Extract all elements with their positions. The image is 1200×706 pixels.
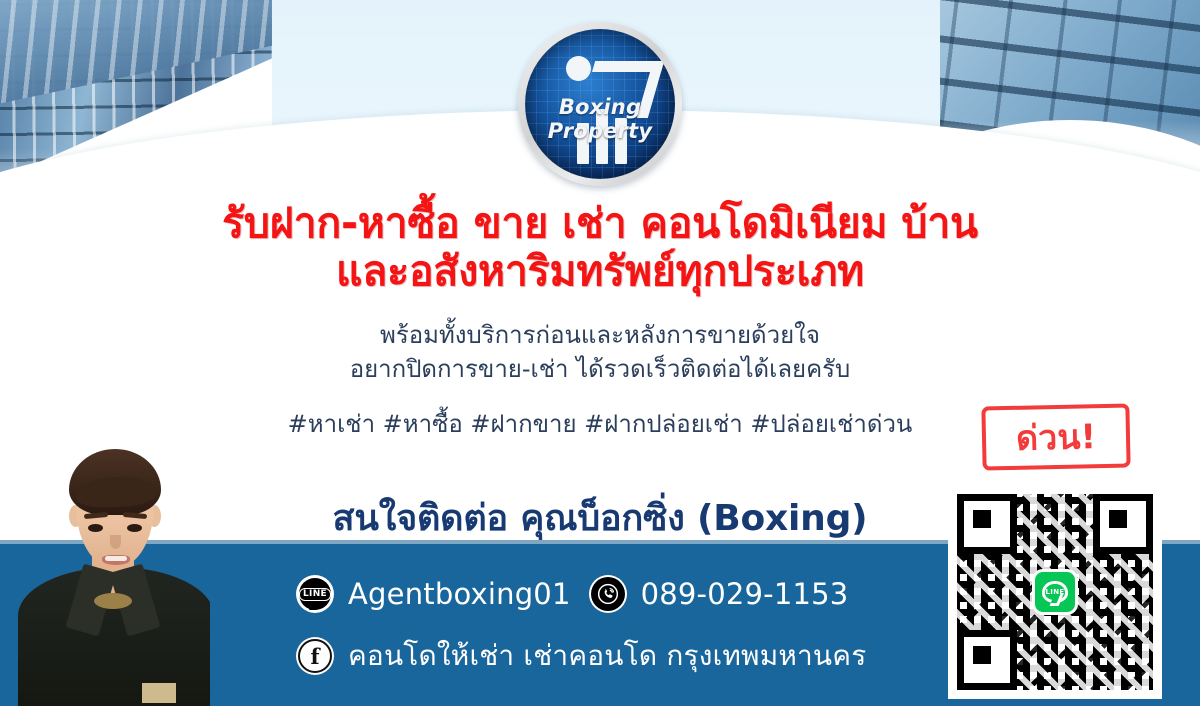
urgent-stamp: ด่วน! xyxy=(981,403,1130,470)
headline-line-1: รับฝาก-หาซื้อ ขาย เช่า คอนโดมิเนียม บ้าน xyxy=(0,199,1200,247)
headline-line-2: และอสังหาริมทรัพย์ทุกประเภท xyxy=(0,247,1200,295)
footer-row-facebook: f คอนโดให้เช่า เช่าคอนโด กรุงเทพมหานคร xyxy=(296,634,866,678)
brand-logo-inner: Boxing Property xyxy=(525,29,675,179)
subtitle-line-2: อยากปิดการขาย-เช่า ได้รวดเร็วติดต่อได้เล… xyxy=(0,352,1200,386)
line-id-text[interactable]: Agentboxing01 xyxy=(348,577,571,611)
footer-row-line-and-phone: LINE Agentboxing01 089-029-1153 xyxy=(296,575,848,613)
agent-portrait-photo xyxy=(14,415,210,706)
qr-line-badge-icon: LINE xyxy=(1032,569,1078,615)
portrait-name-badge xyxy=(142,683,176,703)
line-app-icon[interactable]: LINE xyxy=(296,575,334,613)
qr-finder-top-left xyxy=(957,494,1017,554)
qr-finder-bottom-left xyxy=(957,630,1017,690)
qr-finder-top-right xyxy=(1093,494,1153,554)
facebook-icon[interactable]: f xyxy=(296,637,334,675)
subtitle-line-1: พร้อมทั้งบริการก่อนและหลังการขายด้วยใจ xyxy=(0,318,1200,352)
logo-person-head-icon xyxy=(566,56,591,81)
qr-quiet-zone-right xyxy=(1153,490,1157,694)
brand-logo-text: Boxing Property xyxy=(525,95,675,143)
qr-line-label: LINE xyxy=(1046,589,1065,596)
portrait-teeth xyxy=(105,556,127,561)
portrait-collar-knot xyxy=(94,593,132,609)
phone-ringing-icon[interactable] xyxy=(589,575,627,613)
qr-matrix: LINE xyxy=(953,490,1157,694)
line-qr-code[interactable]: LINE xyxy=(948,485,1162,699)
page-title: รับฝาก-หาซื้อ ขาย เช่า คอนโดมิเนียม บ้าน… xyxy=(0,199,1200,295)
qr-quiet-zone-bottom xyxy=(953,690,1157,694)
promo-poster: Boxing Property รับฝาก-หาซื้อ ขาย เช่า ค… xyxy=(0,0,1200,706)
subtitle-block: พร้อมทั้งบริการก่อนและหลังการขายด้วยใจ อ… xyxy=(0,318,1200,386)
phone-number-text[interactable]: 089-029-1153 xyxy=(641,577,849,611)
brand-logo: Boxing Property xyxy=(518,22,682,186)
facebook-page-text[interactable]: คอนโดให้เช่า เช่าคอนโด กรุงเทพมหานคร xyxy=(348,634,866,678)
portrait-nose xyxy=(110,535,121,549)
portrait-eye-right xyxy=(127,524,142,532)
line-speech-bubble-icon: LINE xyxy=(1042,581,1068,603)
portrait-eye-left xyxy=(88,524,103,532)
